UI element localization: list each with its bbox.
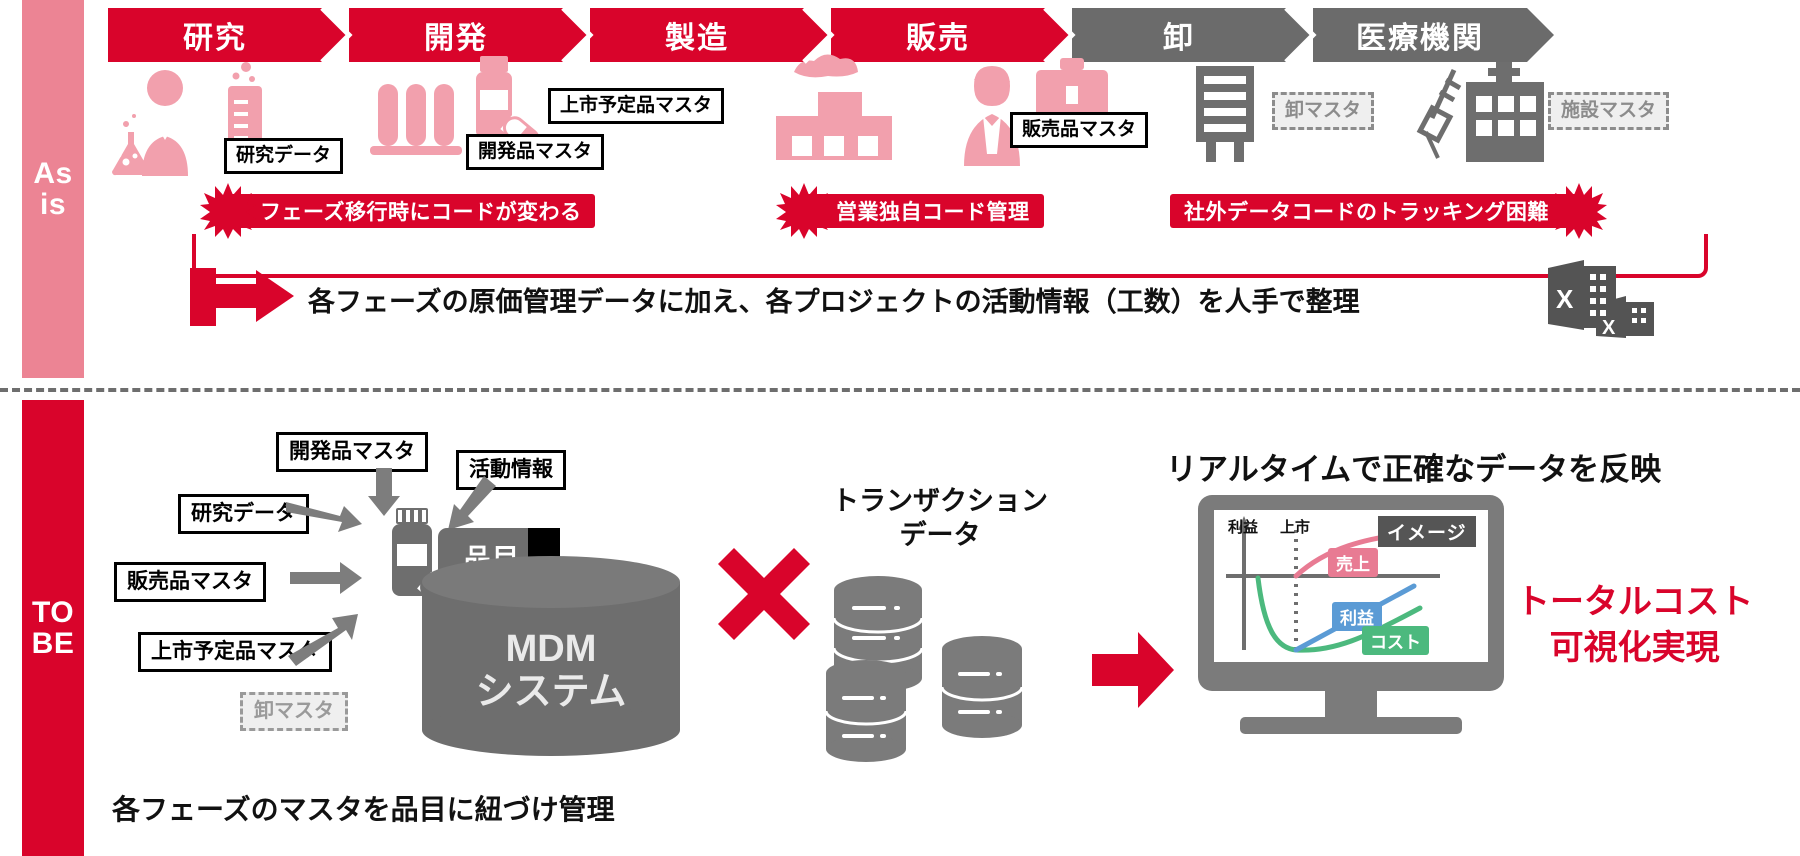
- test-tubes-icon: [370, 78, 462, 160]
- asis-summary-text: 各フェーズの原価管理データに加え、各プロジェクトの活動情報（工数）を人手で整理: [308, 280, 1360, 319]
- issue-callout-3[interactable]: 社外データコードのトラッキング困難: [1170, 194, 1583, 228]
- phase-label: 医療機関: [1356, 13, 1484, 57]
- total-cost-result: トータルコスト 可視化実現: [1516, 580, 1753, 672]
- label-text: 卸マスタ: [1285, 100, 1361, 121]
- burst-star-icon: [776, 183, 832, 239]
- rail-as-is-line2: is: [40, 189, 66, 221]
- asis-master-sales-product[interactable]: 販売品マスタ: [1010, 112, 1148, 148]
- chevron-icon: [804, 8, 831, 62]
- mdm-label: MDM システム: [422, 628, 680, 713]
- rail-to-be: TO BE: [22, 400, 84, 856]
- chevron-icon: [563, 8, 590, 62]
- monitor-screen: 利益 上市 イメージ 売上 利益 コスト: [1214, 510, 1488, 662]
- transaction-line-1: トランザクション: [800, 485, 1080, 519]
- issue-text: 社外データコードのトラッキング困難: [1184, 196, 1549, 226]
- mdm-cylinder: MDM システム: [422, 556, 680, 766]
- asis-master-development-product[interactable]: 開発品マスタ: [466, 134, 604, 170]
- syringe-icon: [1418, 62, 1464, 162]
- phase-medical-institution[interactable]: 医療機関: [1313, 8, 1527, 62]
- svg-text:X: X: [1602, 317, 1616, 339]
- rail-as-is: As is: [22, 0, 84, 378]
- asis-master-facility[interactable]: 施設マスタ: [1548, 92, 1669, 130]
- transaction-data-label: トランザクション データ: [800, 485, 1080, 553]
- mdm-caption: 各フェーズのマスタを品目に紐づけ管理: [112, 788, 615, 828]
- mdm-line-2: システム: [422, 671, 680, 714]
- asis-master-research-data[interactable]: 研究データ: [224, 138, 343, 174]
- issue-text: フェーズ移行時にコードが変わる: [260, 196, 581, 226]
- chevron-tip-icon: [1527, 8, 1554, 62]
- phase-research[interactable]: 研究: [108, 8, 322, 62]
- summary-bracket: [192, 234, 1708, 278]
- label-text: 研究データ: [236, 145, 331, 166]
- transaction-line-2: データ: [800, 519, 1080, 553]
- label-text: 上市予定品マスタ: [560, 95, 712, 116]
- hospital-icon: [1462, 62, 1548, 162]
- issue-callout-2[interactable]: 営業独自コード管理: [800, 194, 1044, 228]
- rail-as-is-line1: As: [33, 158, 72, 190]
- result-arrow-icon: [1092, 632, 1174, 708]
- phase-label: 研究: [183, 13, 247, 57]
- phase-sales[interactable]: 販売: [831, 8, 1045, 62]
- database-stack-icon-2: [940, 636, 1024, 738]
- phase-wholesale[interactable]: 卸: [1072, 8, 1286, 62]
- rail-to-be-line2: BE: [32, 628, 75, 660]
- chart-legend-sales: 売上: [1328, 548, 1378, 577]
- wholesale-building-icon: [1188, 66, 1262, 162]
- result-line-2: 可視化実現: [1516, 626, 1753, 672]
- database-stack-icon-3: [824, 660, 908, 762]
- chevron-icon: [1045, 8, 1072, 62]
- phase-manufacturing[interactable]: 製造: [590, 8, 804, 62]
- phase-label: 販売: [906, 13, 970, 57]
- label-text: 販売品マスタ: [1022, 119, 1136, 140]
- asis-master-wholesale[interactable]: 卸マスタ: [1272, 92, 1374, 130]
- svg-text:X: X: [1556, 284, 1574, 314]
- phase-development[interactable]: 開発: [349, 8, 563, 62]
- excel-files-icon: X X: [1548, 258, 1668, 338]
- issue-text: 営業独自コード管理: [836, 196, 1030, 226]
- section-divider: [0, 388, 1800, 392]
- rail-to-be-line1: TO: [32, 597, 74, 629]
- monitor-base: [1240, 717, 1462, 734]
- factory-icon: [766, 56, 896, 160]
- asis-master-planned-launch-product[interactable]: 上市予定品マスタ: [548, 88, 724, 124]
- mdm-line-1: MDM: [422, 628, 680, 671]
- phase-label: 開発: [424, 13, 488, 57]
- multiply-icon: [718, 548, 810, 640]
- burst-star-icon: [1551, 183, 1607, 239]
- briefcase-icon: [1036, 58, 1108, 120]
- cylinder-top: [422, 556, 680, 608]
- result-line-1: トータルコスト: [1516, 580, 1753, 626]
- summary-arrow-icon: [190, 268, 312, 326]
- monitor-neck: [1325, 691, 1377, 717]
- chevron-icon: [1286, 8, 1313, 62]
- monitor-frame: 利益 上市 イメージ 売上 利益 コスト: [1198, 495, 1504, 691]
- phase-label: 卸: [1163, 13, 1195, 57]
- diagram-canvas: As is 研究 開発 製造 販売 卸: [0, 0, 1800, 856]
- chart-legend-cost: コスト: [1362, 626, 1429, 655]
- test-beaker-icon: [212, 60, 274, 150]
- chart-image-badge: イメージ: [1378, 516, 1476, 547]
- issue-callout-1[interactable]: フェーズ移行時にコードが変わる: [224, 194, 595, 228]
- realtime-headline: リアルタイムで正確なデータを反映: [1166, 444, 1661, 489]
- phase-bar: 研究 開発 製造 販売 卸: [108, 8, 1527, 62]
- chart-y-axis-label: 利益: [1228, 516, 1258, 537]
- chart-launch-label: 上市: [1280, 516, 1310, 537]
- label-text: 開発品マスタ: [478, 141, 592, 162]
- label-text: 施設マスタ: [1561, 100, 1656, 121]
- burst-star-icon: [200, 183, 256, 239]
- issue-plate: 社外データコードのトラッキング困難: [1170, 194, 1583, 228]
- issue-plate: フェーズ移行時にコードが変わる: [224, 194, 595, 228]
- issue-plate: 営業独自コード管理: [800, 194, 1044, 228]
- phase-label: 製造: [665, 13, 729, 57]
- chevron-icon: [322, 8, 349, 62]
